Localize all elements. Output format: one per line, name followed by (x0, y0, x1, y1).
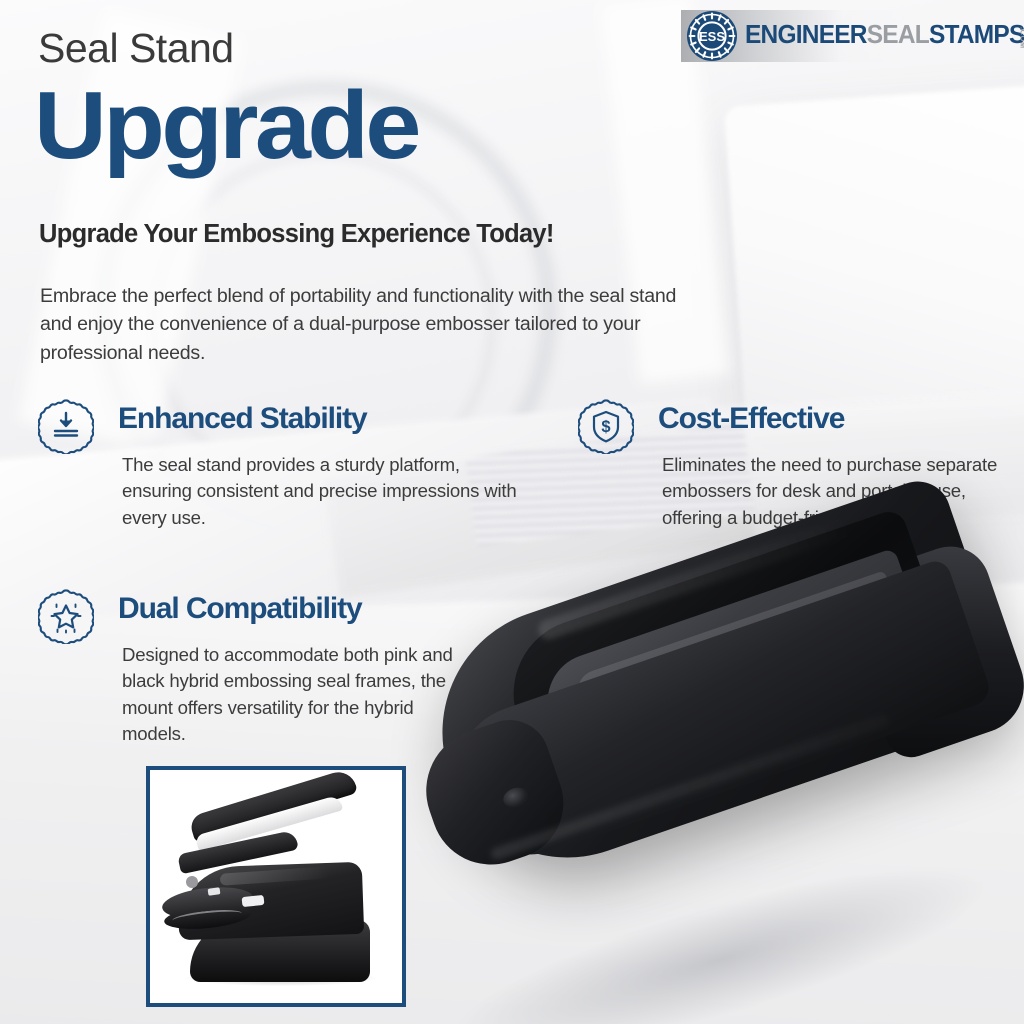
shield-dollar-badge-icon: $ (578, 398, 634, 454)
ess-gear-seal-icon: ESS (686, 10, 738, 62)
hero-headline: Upgrade (34, 78, 418, 174)
feature-body: The seal stand provides a sturdy platfor… (122, 452, 522, 531)
feature-title: Cost-Effective (658, 404, 844, 434)
download-to-platform-badge-icon (38, 398, 94, 454)
hero-lede: Embrace the perfect blend of portability… (40, 282, 712, 367)
logo-word-stamps: STAMPS (929, 21, 1024, 49)
feature-title: Enhanced Stability (118, 404, 367, 434)
infographic-page: ESS ENGINEERSEALSTAMPS .COM Seal Stand U… (0, 0, 1024, 1024)
feature-title: Dual Compatibility (118, 594, 362, 624)
inset-product-photo-frame (146, 766, 406, 1007)
logo-word-engineer: ENGINEER (745, 21, 867, 49)
brand-wordmark: ENGINEERSEALSTAMPS .COM (745, 23, 1024, 49)
star-sparkle-badge-icon (38, 588, 94, 644)
logo-tld: .COM (1019, 27, 1024, 49)
logo-word-seal: SEAL (867, 21, 929, 49)
main-product-image (420, 545, 1024, 1024)
product-drop-shadow (436, 830, 1005, 1024)
brand-logo[interactable]: ESS ENGINEERSEALSTAMPS .COM (681, 8, 1017, 64)
inset-handle-pivot (186, 876, 198, 888)
ess-monogram-text: ESS (699, 29, 725, 44)
hero-subhead: Upgrade Your Embossing Experience Today! (39, 222, 554, 248)
background-laptop-screen (724, 84, 1024, 436)
hero-kicker: Seal Stand (38, 28, 234, 69)
dollar-glyph: $ (601, 418, 610, 436)
